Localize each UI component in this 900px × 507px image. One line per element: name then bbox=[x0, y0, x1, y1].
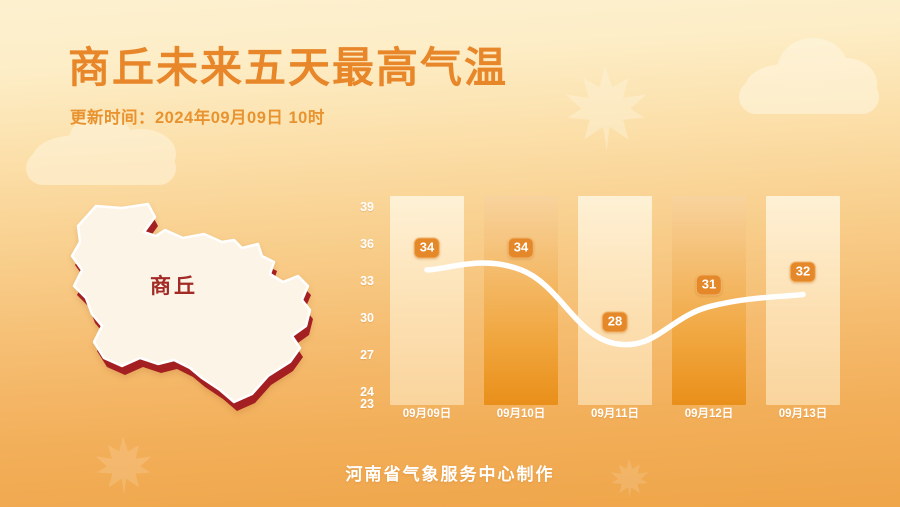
x-axis-tick: 09月10日 bbox=[476, 405, 566, 421]
map-region-label: 商丘 bbox=[150, 270, 198, 300]
temperature-value-badge: 32 bbox=[790, 262, 816, 283]
footer-credit: 河南省气象服务中心制作 bbox=[0, 460, 900, 485]
temperature-line bbox=[380, 190, 850, 405]
plot-area: 3434283132 bbox=[380, 190, 850, 405]
cloud-decoration-top-right bbox=[735, 32, 885, 117]
update-time-text: 更新时间：2024年09月09日 10时 bbox=[70, 107, 325, 129]
page-title: 商丘未来五天最高气温 bbox=[68, 44, 508, 92]
temperature-value-badge: 28 bbox=[602, 311, 628, 332]
y-axis-tick: 23 bbox=[340, 397, 374, 411]
maple-leaf-decoration-top bbox=[560, 58, 650, 156]
y-axis-tick: 27 bbox=[340, 348, 374, 362]
shangqiu-map bbox=[52, 190, 342, 420]
y-axis: 39363330272423 bbox=[340, 190, 374, 405]
y-axis-tick: 30 bbox=[340, 311, 374, 325]
temperature-value-badge: 31 bbox=[696, 274, 722, 295]
y-axis-tick: 36 bbox=[340, 237, 374, 251]
y-axis-tick: 33 bbox=[340, 274, 374, 288]
x-axis: 09月09日09月10日09月11日09月12日09月13日 bbox=[380, 405, 850, 429]
x-axis-tick: 09月13日 bbox=[758, 405, 848, 421]
x-axis-tick: 09月11日 bbox=[570, 405, 660, 421]
y-axis-tick: 39 bbox=[340, 200, 374, 214]
temperature-value-badge: 34 bbox=[508, 237, 534, 258]
weather-poster: 商丘未来五天最高气温 更新时间：2024年09月09日 10时 商丘 39363… bbox=[0, 0, 900, 507]
temperature-chart: 39363330272423 3434283132 09月09日09月10日09… bbox=[340, 190, 850, 415]
temperature-value-badge: 34 bbox=[414, 237, 440, 258]
temperature-line-path bbox=[427, 263, 803, 345]
x-axis-tick: 09月12日 bbox=[664, 405, 754, 421]
x-axis-tick: 09月09日 bbox=[382, 405, 472, 421]
